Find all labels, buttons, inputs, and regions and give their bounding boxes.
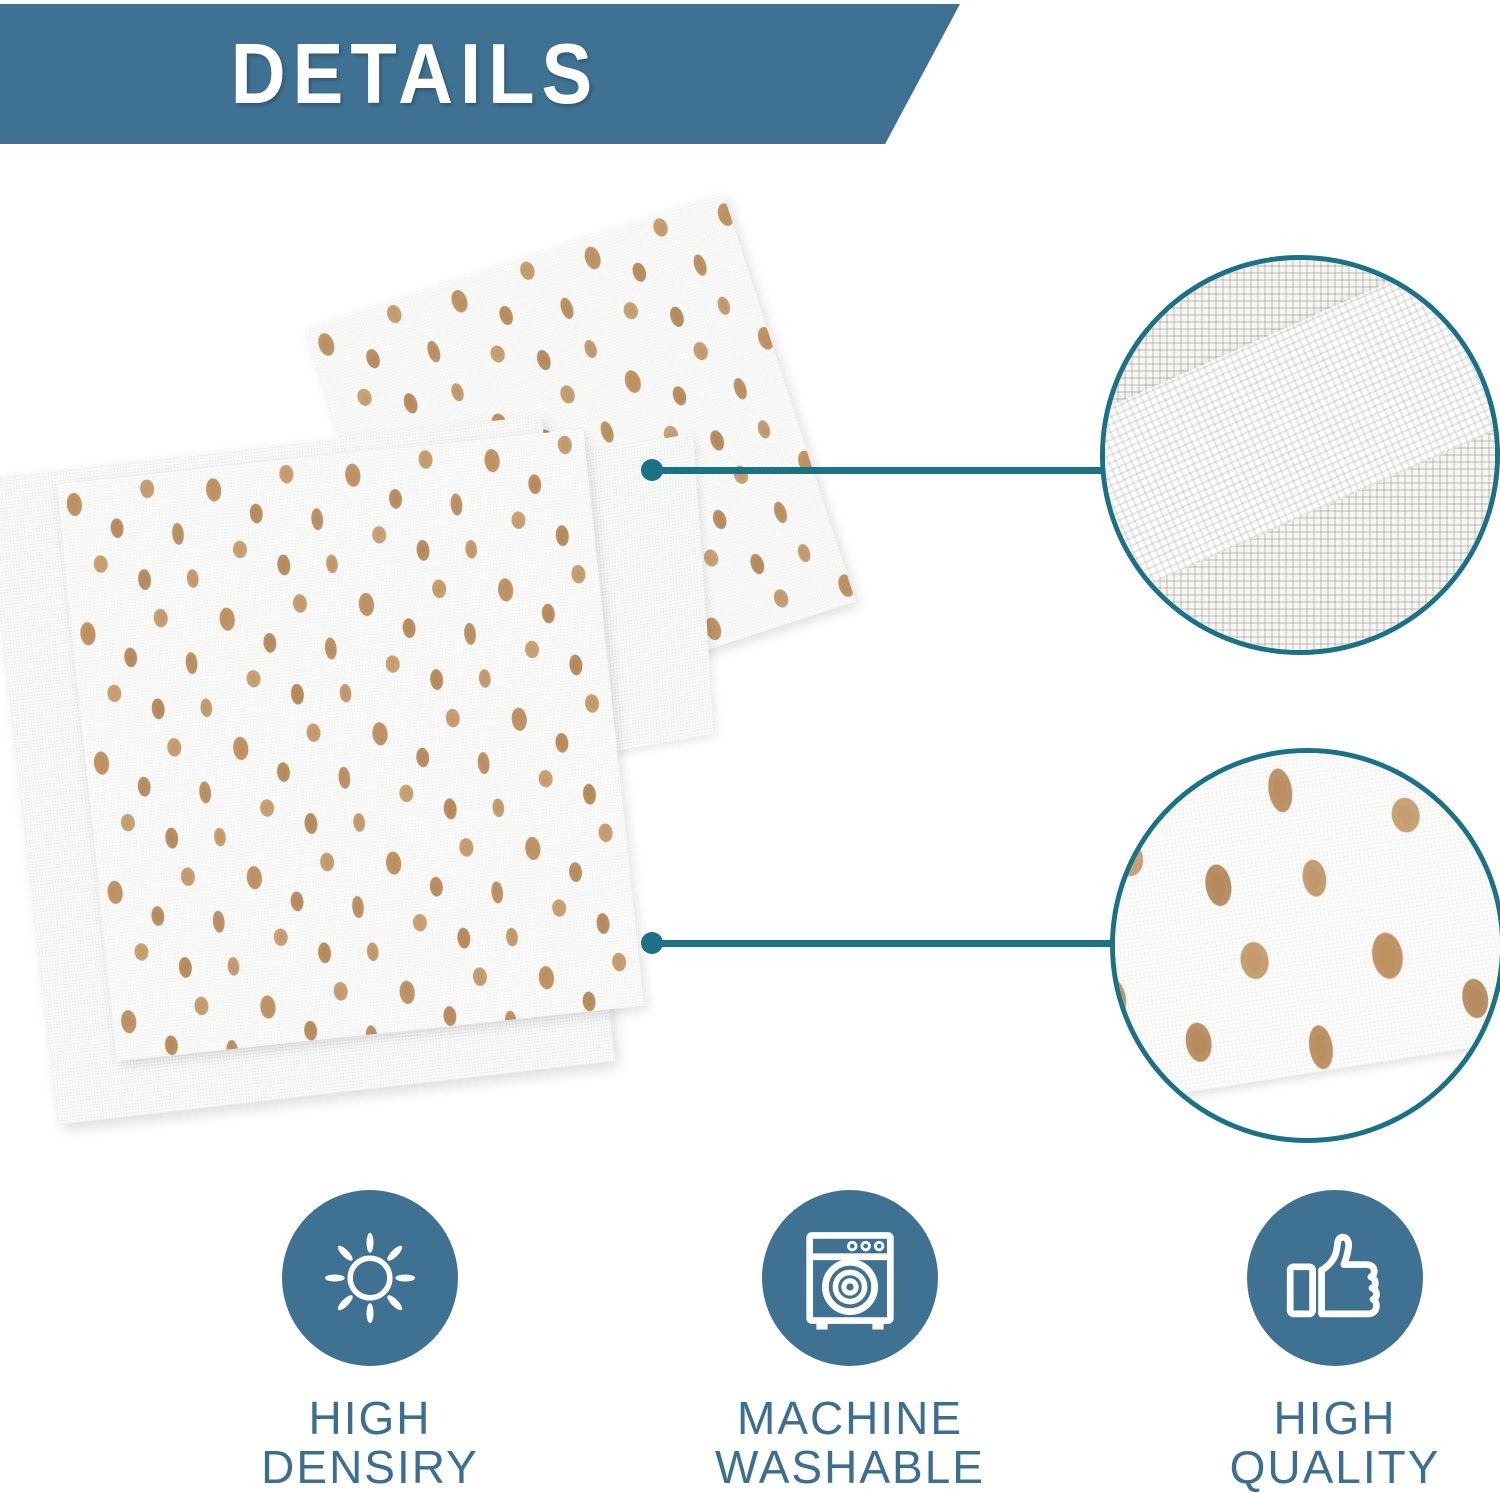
leader-line-weave bbox=[660, 467, 1140, 474]
leader-dot-print bbox=[641, 932, 663, 954]
details-banner: DETAILS bbox=[0, 4, 960, 144]
feature-icon-badge bbox=[762, 1190, 938, 1366]
feature-label-line1: HIGH bbox=[170, 1394, 570, 1443]
feature-icon-badge bbox=[282, 1190, 458, 1366]
callout-fabric-weave bbox=[1100, 255, 1500, 655]
page-title: DETAILS bbox=[0, 0, 830, 152]
feature-high-density: HIGH DENSIRY bbox=[170, 1190, 570, 1492]
feature-label-high-density: HIGH DENSIRY bbox=[170, 1394, 570, 1492]
product-photo bbox=[0, 230, 1020, 1180]
feature-label-line2: QUALITY bbox=[1135, 1443, 1500, 1492]
product-detail-page: DETAILS bbox=[0, 0, 1500, 1492]
leader-line-print bbox=[660, 940, 1130, 947]
feature-high-quality: HIGH QUALITY bbox=[1135, 1190, 1500, 1492]
thumbs-up-icon bbox=[1279, 1222, 1391, 1334]
feature-machine-washable: MACHINE WASHABLE bbox=[650, 1190, 1050, 1492]
feature-label-machine-washable: MACHINE WASHABLE bbox=[650, 1394, 1050, 1492]
sun-icon bbox=[315, 1223, 425, 1333]
feature-label-line2: WASHABLE bbox=[650, 1443, 1050, 1492]
feature-label-high-quality: HIGH QUALITY bbox=[1135, 1394, 1500, 1492]
leader-dot-weave bbox=[641, 459, 663, 481]
feature-label-line1: HIGH bbox=[1135, 1394, 1500, 1443]
callout-leopard-print bbox=[1110, 748, 1500, 1143]
towel-front-printed bbox=[56, 429, 644, 1061]
feature-label-line1: MACHINE bbox=[650, 1394, 1050, 1443]
print-swatch bbox=[1110, 748, 1500, 1108]
washing-machine-icon bbox=[794, 1222, 906, 1334]
feature-label-line2: DENSIRY bbox=[170, 1443, 570, 1492]
feature-row: HIGH DENSIRY bbox=[0, 1190, 1500, 1492]
feature-icon-badge bbox=[1247, 1190, 1423, 1366]
